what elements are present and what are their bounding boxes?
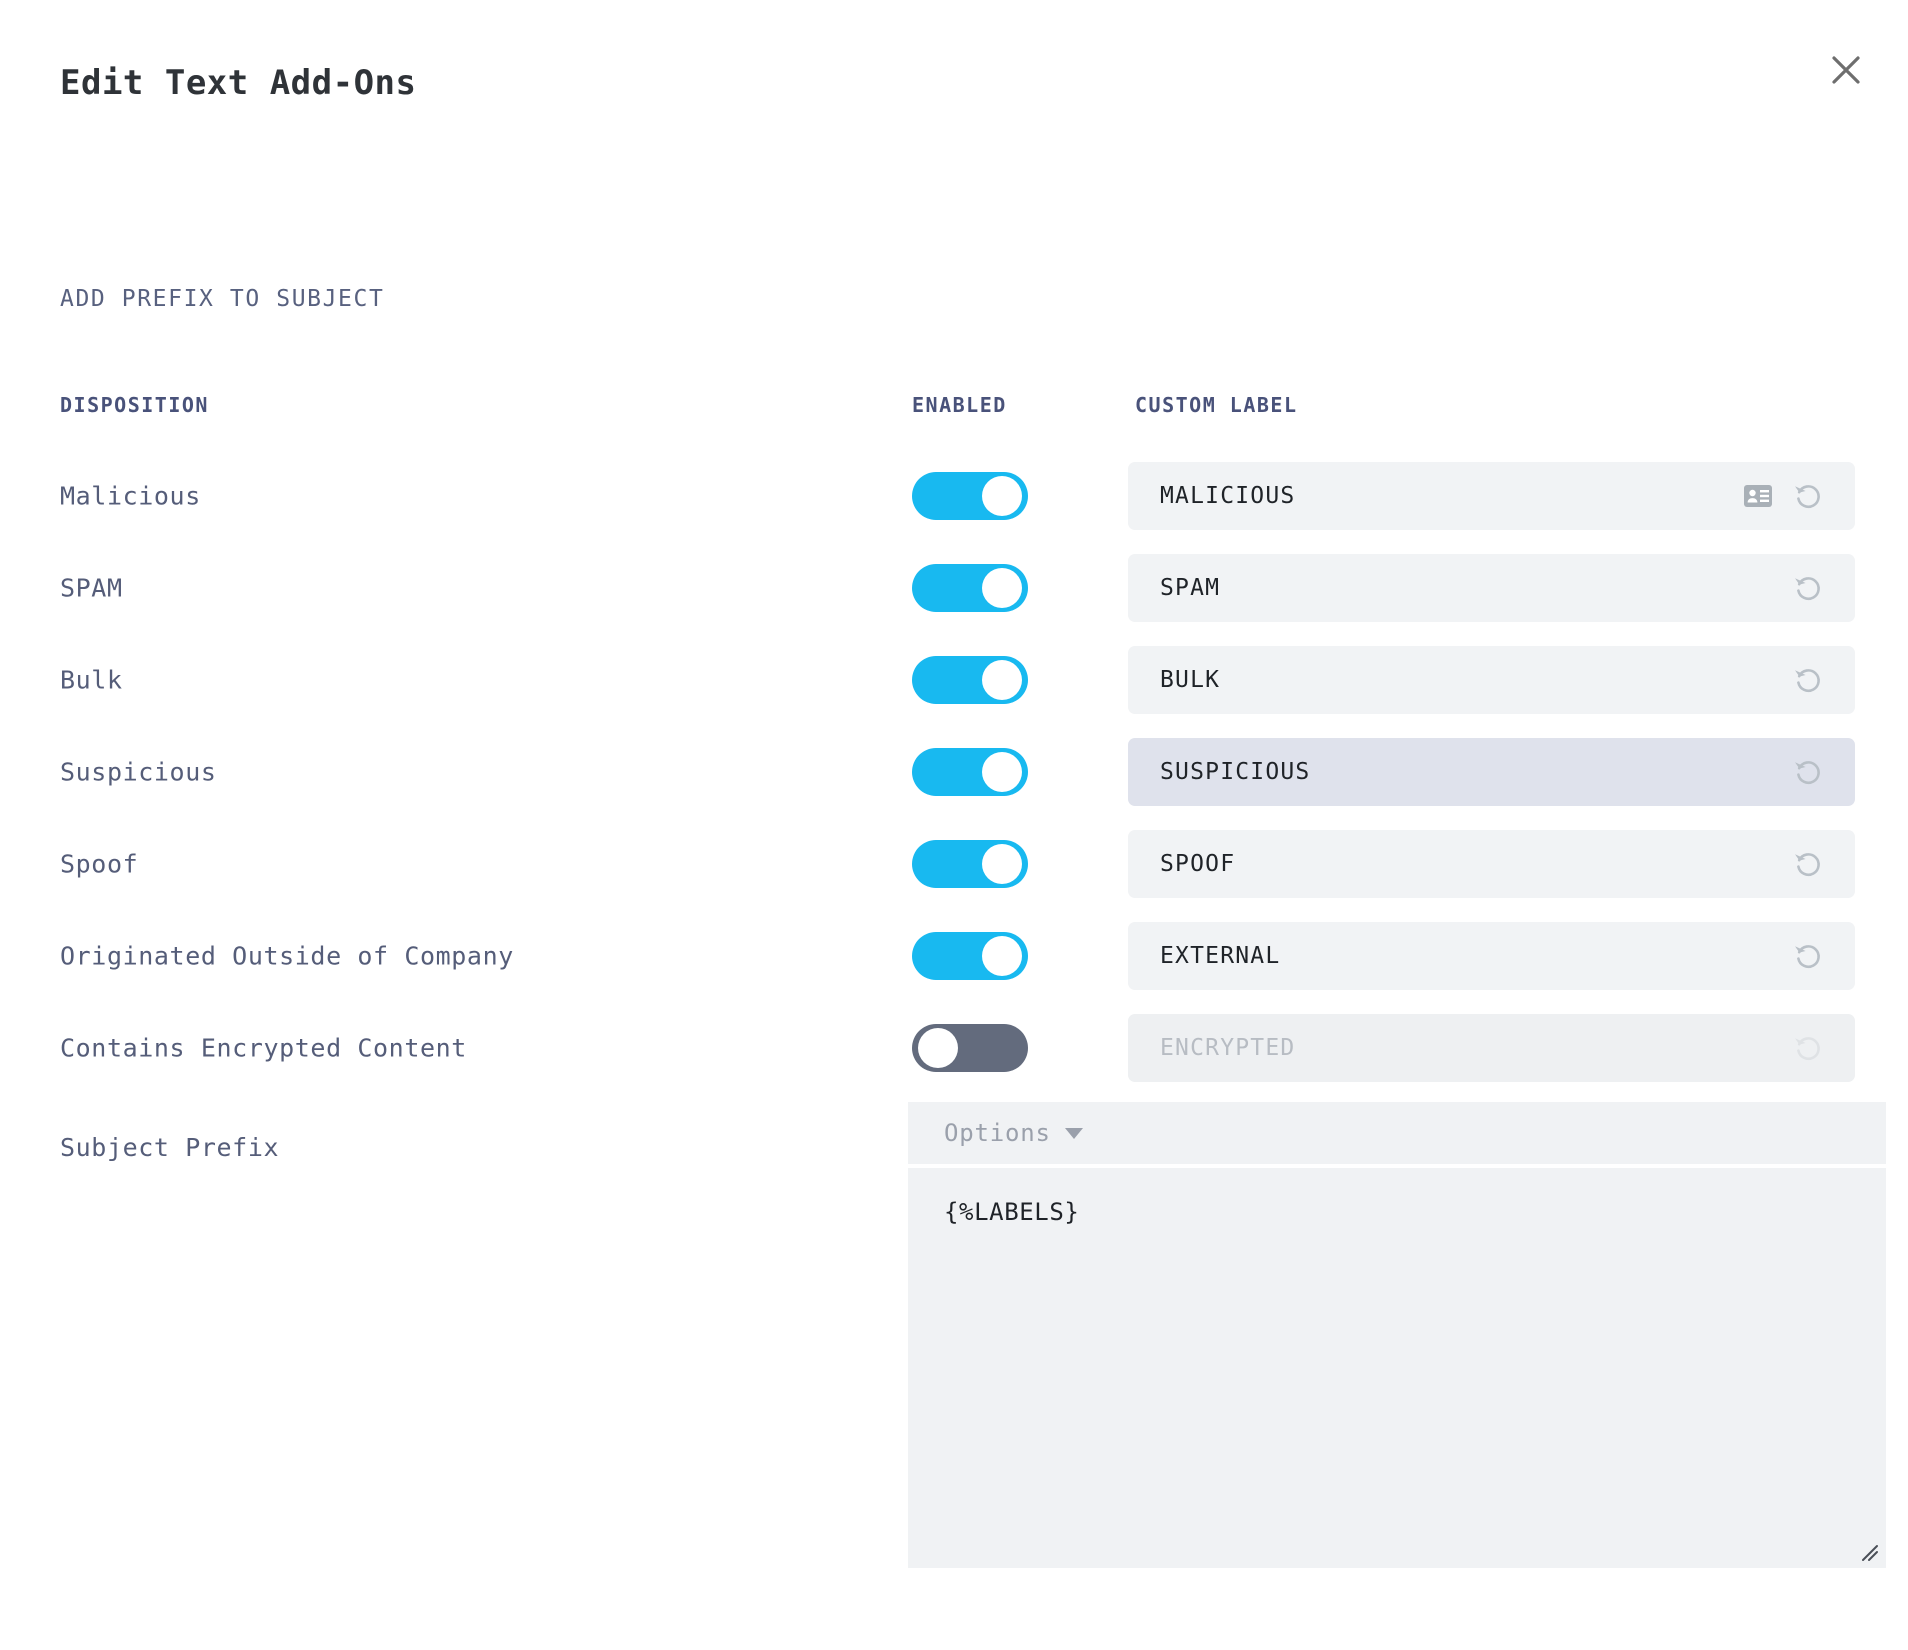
column-header-enabled: ENABLED [912,393,1007,417]
reset-icon[interactable] [1791,939,1825,973]
disposition-label: Bulk [60,666,123,695]
id-badge-icon[interactable] [1741,479,1775,513]
reset-icon [1791,1031,1825,1065]
reset-icon[interactable] [1791,571,1825,605]
custom-label-value: SPAM [1160,575,1791,601]
custom-label-input: ENCRYPTED [1128,1014,1855,1082]
disposition-label: Contains Encrypted Content [60,1034,467,1063]
field-icon-group [1741,479,1825,513]
disposition-label: Spoof [60,850,138,879]
disposition-label: SPAM [60,574,123,603]
field-icon-group [1791,939,1825,973]
enabled-toggle[interactable] [912,1024,1028,1072]
close-icon [1829,53,1863,87]
column-header-custom-label: CUSTOM LABEL [1135,393,1298,417]
custom-label-input[interactable]: BULK [1128,646,1855,714]
enabled-toggle[interactable] [912,840,1028,888]
page-title: Edit Text Add-Ons [60,63,417,103]
enabled-toggle[interactable] [912,564,1028,612]
subject-prefix-textarea-value: {%LABELS} [944,1198,1079,1226]
column-header-disposition: DISPOSITION [60,393,209,417]
enabled-toggle[interactable] [912,472,1028,520]
toggle-knob [982,844,1022,884]
options-dropdown-label: Options [944,1119,1051,1147]
enabled-toggle[interactable] [912,656,1028,704]
close-button[interactable] [1820,44,1872,96]
custom-label-value: EXTERNAL [1160,943,1791,969]
section-label-add-prefix-to-subject: ADD PREFIX TO SUBJECT [60,286,384,312]
toggle-knob [982,936,1022,976]
table-row: MaliciousMALICIOUS [0,450,1908,542]
subject-prefix-label: Subject Prefix [60,1133,279,1162]
field-icon-group [1791,755,1825,789]
custom-label-value: SUSPICIOUS [1160,759,1791,785]
table-row: SPAMSPAM [0,542,1908,634]
toggle-knob [982,476,1022,516]
table-row: BulkBULK [0,634,1908,726]
reset-icon[interactable] [1791,663,1825,697]
custom-label-value: ENCRYPTED [1160,1035,1791,1061]
enabled-toggle[interactable] [912,932,1028,980]
disposition-label: Suspicious [60,758,217,787]
toggle-knob [982,660,1022,700]
field-icon-group [1791,847,1825,881]
custom-label-value: MALICIOUS [1160,483,1741,509]
subject-prefix-textarea[interactable]: {%LABELS} [908,1168,1886,1568]
reset-icon[interactable] [1791,479,1825,513]
field-icon-group [1791,571,1825,605]
custom-label-input[interactable]: SUSPICIOUS [1128,738,1855,806]
toggle-knob [982,752,1022,792]
toggle-knob [982,568,1022,608]
options-dropdown[interactable]: Options [908,1102,1886,1164]
custom-label-value: BULK [1160,667,1791,693]
field-icon-group [1791,1031,1825,1065]
table-row: SpoofSPOOF [0,818,1908,910]
table-row: Originated Outside of CompanyEXTERNAL [0,910,1908,1002]
table-row: Contains Encrypted ContentENCRYPTED [0,1002,1908,1094]
custom-label-input[interactable]: MALICIOUS [1128,462,1855,530]
custom-label-value: SPOOF [1160,851,1791,877]
field-icon-group [1791,663,1825,697]
reset-icon[interactable] [1791,755,1825,789]
chevron-down-icon [1065,1128,1083,1139]
custom-label-input[interactable]: EXTERNAL [1128,922,1855,990]
disposition-label: Malicious [60,482,201,511]
table-row: SuspiciousSUSPICIOUS [0,726,1908,818]
edit-text-addons-dialog: Edit Text Add-Ons ADD PREFIX TO SUBJECT … [0,0,1908,1650]
custom-label-input[interactable]: SPAM [1128,554,1855,622]
reset-icon[interactable] [1791,847,1825,881]
disposition-label: Originated Outside of Company [60,942,514,971]
toggle-knob [918,1028,958,1068]
resize-grip-icon[interactable] [1857,1540,1879,1562]
enabled-toggle[interactable] [912,748,1028,796]
custom-label-input[interactable]: SPOOF [1128,830,1855,898]
